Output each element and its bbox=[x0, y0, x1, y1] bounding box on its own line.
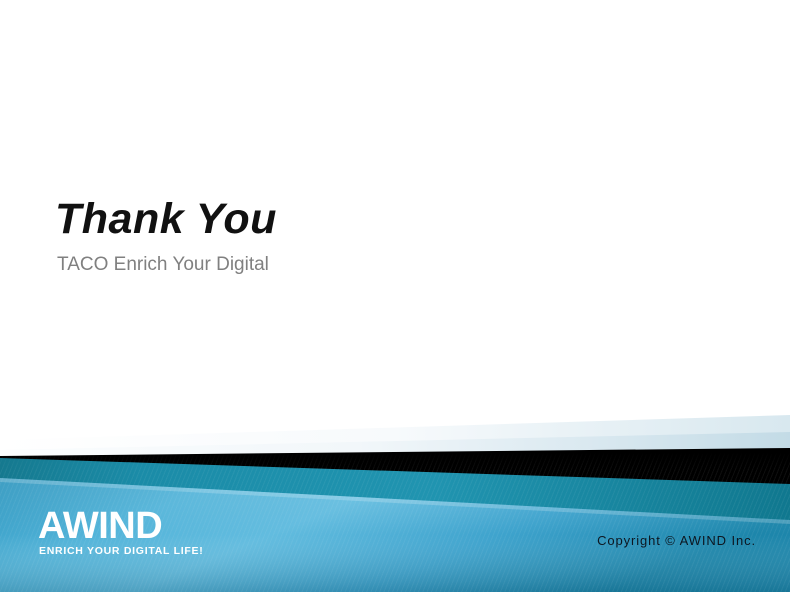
awind-tagline: ENRICH YOUR DIGITAL LIFE! bbox=[39, 546, 198, 557]
copyright-text: Copyright © AWIND Inc. bbox=[597, 533, 756, 548]
page-title: Thank You bbox=[55, 198, 655, 241]
awind-wordmark: AWIND bbox=[38, 508, 198, 544]
footer-decoration bbox=[0, 412, 790, 592]
footer-wave-graphic bbox=[0, 412, 790, 592]
awind-logo: AWIND ENRICH YOUR DIGITAL LIFE! bbox=[38, 508, 198, 556]
page-subtitle: TACO Enrich Your Digital bbox=[57, 255, 655, 274]
slide-canvas: Thank You TACO Enrich Your Digital bbox=[0, 0, 790, 592]
title-block: Thank You TACO Enrich Your Digital bbox=[55, 198, 655, 274]
